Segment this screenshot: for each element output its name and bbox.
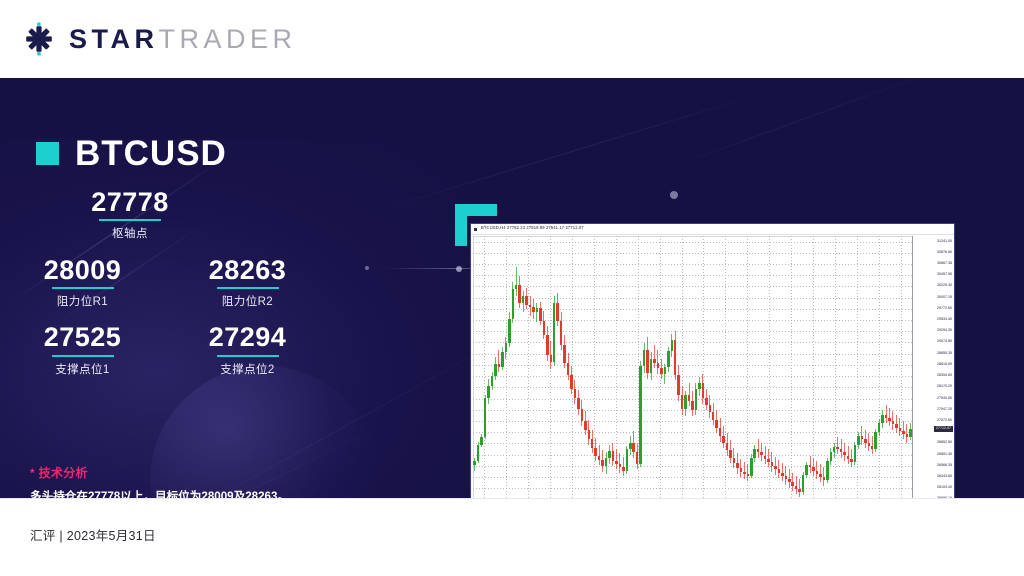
candlestick [715, 236, 717, 498]
price-axis-tick: 29772.60 [937, 307, 952, 311]
candlestick [747, 236, 749, 498]
candlestick [512, 236, 514, 498]
candlestick [560, 236, 562, 498]
price-axis-tick: 29294.30 [937, 329, 952, 333]
candlestick [546, 236, 548, 498]
candlestick [847, 236, 849, 498]
candlestick [830, 236, 832, 498]
levels-grid: 28009 阻力位R1 28263 阻力位R2 27525 支撑点位1 272 [0, 256, 330, 391]
candlestick [785, 236, 787, 498]
candlestick [857, 236, 859, 498]
price-axis-tick: 26343.60 [937, 475, 952, 479]
candlestick [629, 236, 631, 498]
price-axis-tick: 29074.80 [937, 340, 952, 344]
candlestick [501, 236, 503, 498]
candlestick [605, 236, 607, 498]
candlestick [567, 236, 569, 498]
candlestick [743, 236, 745, 498]
candlestick [771, 236, 773, 498]
candlestick [740, 236, 742, 498]
candlestick [729, 236, 731, 498]
candlestick [836, 236, 838, 498]
level-r1: 28009 阻力位R1 [0, 256, 165, 323]
page-header: STARTRADER [0, 0, 1024, 78]
level-s2: 27294 支撑点位2 [165, 323, 330, 390]
value-underline [99, 219, 161, 221]
candlestick [764, 236, 766, 498]
candlestick [657, 236, 659, 498]
s1-value: 27525 [0, 323, 165, 351]
value-underline [52, 287, 114, 289]
price-axis-tick: 28170.20 [937, 385, 952, 389]
r2-value: 28263 [165, 256, 330, 284]
brand-name-light: TRADER [159, 24, 297, 54]
candlestick [636, 236, 638, 498]
footer-divider [0, 498, 1024, 499]
support-row: 27525 支撑点位1 27294 支撑点位2 [0, 323, 330, 390]
candlestick [525, 236, 527, 498]
r1-label: 阻力位R1 [0, 293, 165, 309]
footer-caption: 汇评 | 2023年5月31日 [30, 525, 156, 544]
r2-label: 阻力位R2 [165, 293, 330, 309]
candlestick [473, 236, 475, 498]
candlestick [508, 236, 510, 498]
price-axis-tick: 26891.40 [937, 453, 952, 457]
candlestick [895, 236, 897, 498]
candlestick [480, 236, 482, 498]
price-axis-tick: 26103.40 [937, 486, 952, 490]
price-axis-tick: 30457.90 [937, 273, 952, 277]
candlestick [868, 236, 870, 498]
candlestick [888, 236, 890, 498]
candlestick [615, 236, 617, 498]
candlestick [556, 236, 558, 498]
candlestick [864, 236, 866, 498]
candlestick [881, 236, 883, 498]
candlestick [778, 236, 780, 498]
candlestick [892, 236, 894, 498]
candlestick [563, 236, 565, 498]
candlestick [619, 236, 621, 498]
candlestick [674, 236, 676, 498]
candlestick [791, 236, 793, 498]
candlestick [684, 236, 686, 498]
candlestick [574, 236, 576, 498]
candlestick [850, 236, 852, 498]
page-title: BTCUSD [75, 136, 227, 171]
candlestick [805, 236, 807, 498]
candlestick [788, 236, 790, 498]
price-axis-tick: 30667.35 [937, 262, 952, 266]
candlestick [705, 236, 707, 498]
candlestick [726, 236, 728, 498]
candlestick [570, 236, 572, 498]
pivot-label: 枢轴点 [0, 225, 260, 241]
decorative-streak [650, 78, 960, 175]
value-underline [217, 355, 279, 357]
candlestick [601, 236, 603, 498]
chart-bullet-icon [474, 228, 477, 231]
candlestick [584, 236, 586, 498]
candlestick [781, 236, 783, 498]
candlestick [681, 236, 683, 498]
candlestick [878, 236, 880, 498]
candlestick [823, 236, 825, 498]
candlestick [677, 236, 679, 498]
price-axis-tick: 27572.60 [937, 419, 952, 423]
brand-name-bold: STAR [69, 24, 159, 54]
candlestick [632, 236, 634, 498]
page-footer: 汇评 | 2023年5月31日 [0, 498, 1024, 576]
decorative-streak [369, 87, 781, 214]
candlestick [646, 236, 648, 498]
analysis-line-1: 多头持仓在27778以上，目标位为28009及28263。 [30, 488, 390, 498]
s2-label: 支撑点位2 [165, 361, 330, 377]
candlestick [736, 236, 738, 498]
candlestick [529, 236, 531, 498]
candlestick [760, 236, 762, 498]
candlestick [612, 236, 614, 498]
candlestick [874, 236, 876, 498]
candlestick [750, 236, 752, 498]
chart-body: 31241.0030876.6030667.3530457.9030225.40… [471, 236, 954, 498]
candlestick [840, 236, 842, 498]
candlestick [494, 236, 496, 498]
candlestick [798, 236, 800, 498]
candlestick [861, 236, 863, 498]
candlestick [809, 236, 811, 498]
s1-label: 支撑点位1 [0, 361, 165, 377]
candlestick [650, 236, 652, 498]
candlestick [505, 236, 507, 498]
candlestick [885, 236, 887, 498]
brand-logo: STARTRADER [22, 22, 297, 56]
candlestick [598, 236, 600, 498]
chart-window[interactable]: BTCUSD,H4 27782.23 27819.99 27641.17 277… [470, 223, 955, 498]
price-axis-tick: 28615.90 [937, 363, 952, 367]
candlestick [660, 236, 662, 498]
price-axis-tick: 29533.40 [937, 318, 952, 322]
candlestick [484, 236, 486, 498]
brand-wordmark: STARTRADER [69, 26, 297, 53]
price-axis-tick: 26566.35 [937, 464, 952, 468]
candlestick [802, 236, 804, 498]
candlestick [906, 236, 908, 498]
technical-analysis-heading: * 技术分析 [30, 464, 390, 481]
pivot-block: 27778 枢轴点 [0, 188, 260, 241]
candlestick [536, 236, 538, 498]
candlestick [639, 236, 641, 498]
price-axis-tick: 30225.40 [937, 284, 952, 288]
pivot-value: 27778 [0, 188, 260, 216]
candlestick [539, 236, 541, 498]
candlestick [653, 236, 655, 498]
candlestick [591, 236, 593, 498]
candlestick [688, 236, 690, 498]
candlestick [550, 236, 552, 498]
level-r2: 28263 阻力位R2 [165, 256, 330, 323]
candlestick [522, 236, 524, 498]
hero-stage: BTCUSD 27778 枢轴点 28009 阻力位R1 28263 阻力位R2 [0, 78, 1024, 498]
candlestick [722, 236, 724, 498]
candlestick [588, 236, 590, 498]
candlestick [691, 236, 693, 498]
candlestick [487, 236, 489, 498]
candlestick [812, 236, 814, 498]
candlestick [712, 236, 714, 498]
chart-titlebar: BTCUSD,H4 27782.23 27819.99 27641.17 277… [471, 224, 954, 235]
price-axis-tick: 30876.60 [937, 251, 952, 255]
price-axis-tick: 27940.80 [937, 397, 952, 401]
candlestick [843, 236, 845, 498]
candlestick [698, 236, 700, 498]
candlestick [709, 236, 711, 498]
decorative-dot [456, 266, 462, 272]
candlestick [622, 236, 624, 498]
level-s1: 27525 支撑点位1 [0, 323, 165, 390]
candlestick [774, 236, 776, 498]
candlestick [626, 236, 628, 498]
candlestick [667, 236, 669, 498]
candlestick [753, 236, 755, 498]
info-panel: BTCUSD 27778 枢轴点 28009 阻力位R1 28263 阻力位R2 [0, 78, 430, 498]
price-axis-tick: 28394.60 [937, 374, 952, 378]
asterisk-star-logo-icon [22, 22, 56, 56]
candlestick [515, 236, 517, 498]
price-axis-tick: 27947.20 [937, 408, 952, 412]
candlestick [577, 236, 579, 498]
price-axis-tick: 30007.15 [937, 296, 952, 300]
decorative-dot [670, 191, 678, 199]
candlestick [757, 236, 759, 498]
candlestick [498, 236, 500, 498]
candlestick [671, 236, 673, 498]
price-axis-tick: 31241.00 [937, 240, 952, 244]
candlestick [643, 236, 645, 498]
candlestick-plot[interactable] [473, 236, 912, 498]
technical-analysis-block: * 技术分析 多头持仓在27778以上，目标位为28009及28263。 若低于… [30, 464, 390, 498]
value-underline [217, 287, 279, 289]
candlestick [491, 236, 493, 498]
candlestick [719, 236, 721, 498]
candlestick [767, 236, 769, 498]
chart-title-text: BTCUSD,H4 27782.23 27819.99 27641.17 277… [481, 225, 584, 230]
title-square-icon [36, 142, 59, 165]
candlestick [899, 236, 901, 498]
candlestick [819, 236, 821, 498]
price-axis-tick: 26852.50 [937, 441, 952, 445]
candlestick [871, 236, 873, 498]
candlestick [833, 236, 835, 498]
s2-value: 27294 [165, 323, 330, 351]
candlestick [518, 236, 520, 498]
current-price-badge: 27712.07 [934, 426, 953, 432]
price-axis-tick: 28855.35 [937, 352, 952, 356]
instrument-title-row: BTCUSD [36, 136, 227, 171]
candlestick [477, 236, 479, 498]
r1-value: 28009 [0, 256, 165, 284]
value-underline [52, 355, 114, 357]
candlestick [543, 236, 545, 498]
candlestick [664, 236, 666, 498]
candlestick [795, 236, 797, 498]
candlestick [594, 236, 596, 498]
candlestick [702, 236, 704, 498]
candlestick [695, 236, 697, 498]
candlestick [553, 236, 555, 498]
price-axis: 31241.0030876.6030667.3530457.9030225.40… [912, 236, 954, 498]
candlestick [902, 236, 904, 498]
candlestick [816, 236, 818, 498]
candlestick [854, 236, 856, 498]
candlestick [608, 236, 610, 498]
candlestick [733, 236, 735, 498]
candlestick [826, 236, 828, 498]
candlestick [532, 236, 534, 498]
resistance-row: 28009 阻力位R1 28263 阻力位R2 [0, 256, 330, 323]
candlestick [581, 236, 583, 498]
